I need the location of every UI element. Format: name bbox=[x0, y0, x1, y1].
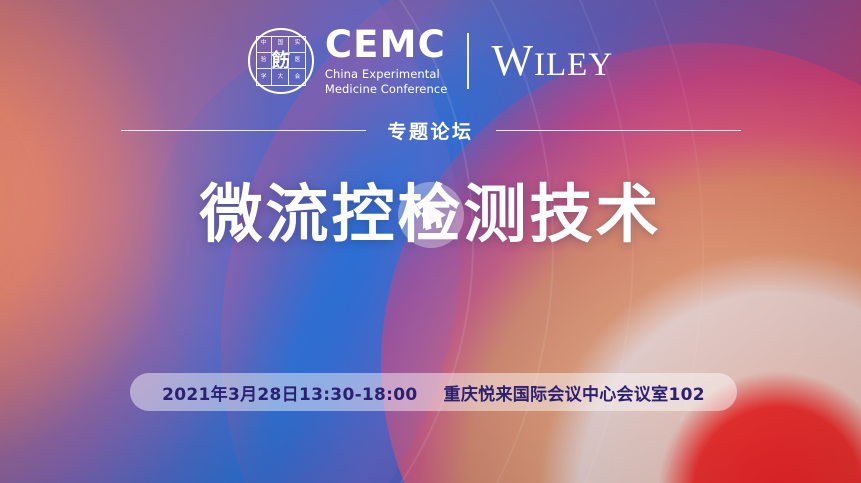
cemc-subtitle-line-2: Medicine Conference bbox=[325, 82, 448, 96]
cemc-subtitle-line-1: China Experimental bbox=[325, 67, 448, 81]
video-poster: 中 国 实 验 医 学 大 会 飭 CEMC China Experimenta… bbox=[0, 0, 861, 483]
emblem-cell: 验 bbox=[256, 53, 273, 70]
event-datetime: 2021年3月28日13:30-18:00 bbox=[162, 380, 417, 405]
emblem-cell: 会 bbox=[289, 69, 306, 86]
wiley-initial: W bbox=[491, 36, 534, 85]
forum-label-row: 专题论坛 bbox=[121, 117, 741, 144]
forum-label: 专题论坛 bbox=[366, 117, 496, 144]
emblem-cell: 中 bbox=[256, 36, 273, 53]
emblem-cell: 大 bbox=[272, 69, 289, 86]
event-info-bar: 2021年3月28日13:30-18:00 重庆悦来国际会议中心会议室102 bbox=[130, 373, 737, 411]
cemc-emblem-icon: 中 国 实 验 医 学 大 会 飭 bbox=[248, 28, 314, 94]
logo-lockup: 中 国 实 验 医 学 大 会 飭 CEMC China Experimenta… bbox=[248, 22, 613, 100]
emblem-cell: 学 bbox=[256, 69, 273, 86]
wiley-wordmark: WILEY bbox=[491, 39, 613, 83]
emblem-cell: 医 bbox=[289, 53, 306, 70]
emblem-center-character: 飭 bbox=[271, 52, 290, 71]
title-area: 微流控检测技术 bbox=[200, 180, 662, 251]
event-venue: 重庆悦来国际会议中心会议室102 bbox=[444, 380, 705, 405]
forum-rule-right bbox=[496, 130, 741, 132]
play-button[interactable] bbox=[398, 182, 464, 248]
logo-divider bbox=[467, 33, 469, 89]
emblem-cell: 实 bbox=[289, 36, 306, 53]
play-triangle-icon bbox=[423, 201, 446, 229]
cemc-acronym: CEMC bbox=[325, 26, 448, 63]
cemc-wordmark: CEMC China Experimental Medicine Confere… bbox=[325, 26, 448, 96]
forum-rule-left bbox=[121, 130, 366, 132]
wiley-smallcaps: ILEY bbox=[534, 47, 613, 83]
cemc-subtitle: China Experimental Medicine Conference bbox=[325, 67, 448, 96]
